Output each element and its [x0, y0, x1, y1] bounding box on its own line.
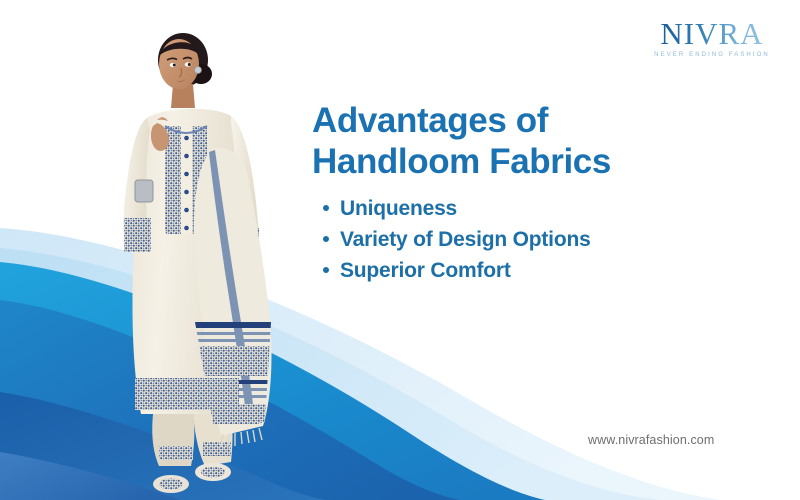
shoe-left-embroidery: [159, 479, 183, 490]
promo-banner: NIVRA NEVER ENDING FASHION Advantages of…: [0, 0, 800, 500]
list-item: Uniqueness: [340, 193, 732, 224]
model-photo: [95, 22, 310, 500]
brand-tagline: NEVER ENDING FASHION: [652, 52, 772, 58]
brand-logo: NIVRA NEVER ENDING FASHION: [652, 18, 772, 58]
kurta-hem-print: [135, 378, 239, 410]
brand-name: NIVRA: [652, 18, 772, 49]
dupatta-stripe-1: [191, 322, 277, 328]
sleeve-cuff-print-left: [124, 218, 151, 252]
pupil-left: [173, 64, 176, 67]
pupil-right: [188, 63, 191, 66]
list-item: Variety of Design Options: [340, 224, 732, 255]
pants-hem-print-left: [159, 446, 193, 460]
website-url[interactable]: www.nivrafashion.com: [588, 433, 714, 447]
dupatta-stripe-2: [191, 332, 277, 335]
shoe-right-embroidery: [201, 467, 225, 478]
page-title-line-1: Advantages of: [312, 100, 732, 141]
dupatta-stripe-3: [191, 339, 277, 342]
content-block: Advantages of Handloom Fabrics Uniquenes…: [312, 100, 732, 286]
dupatta-block-print-band: [191, 346, 277, 376]
page-title: Advantages of Handloom Fabrics: [312, 100, 732, 183]
list-item: Superior Comfort: [340, 255, 732, 286]
page-title-line-2: Handloom Fabrics: [312, 141, 732, 182]
earring: [195, 67, 202, 74]
advantages-list: Uniqueness Variety of Design Options Sup…: [312, 193, 732, 286]
kurta-placket: [181, 126, 192, 234]
pants-hem-print-right: [203, 442, 231, 456]
bracelet: [135, 180, 153, 202]
